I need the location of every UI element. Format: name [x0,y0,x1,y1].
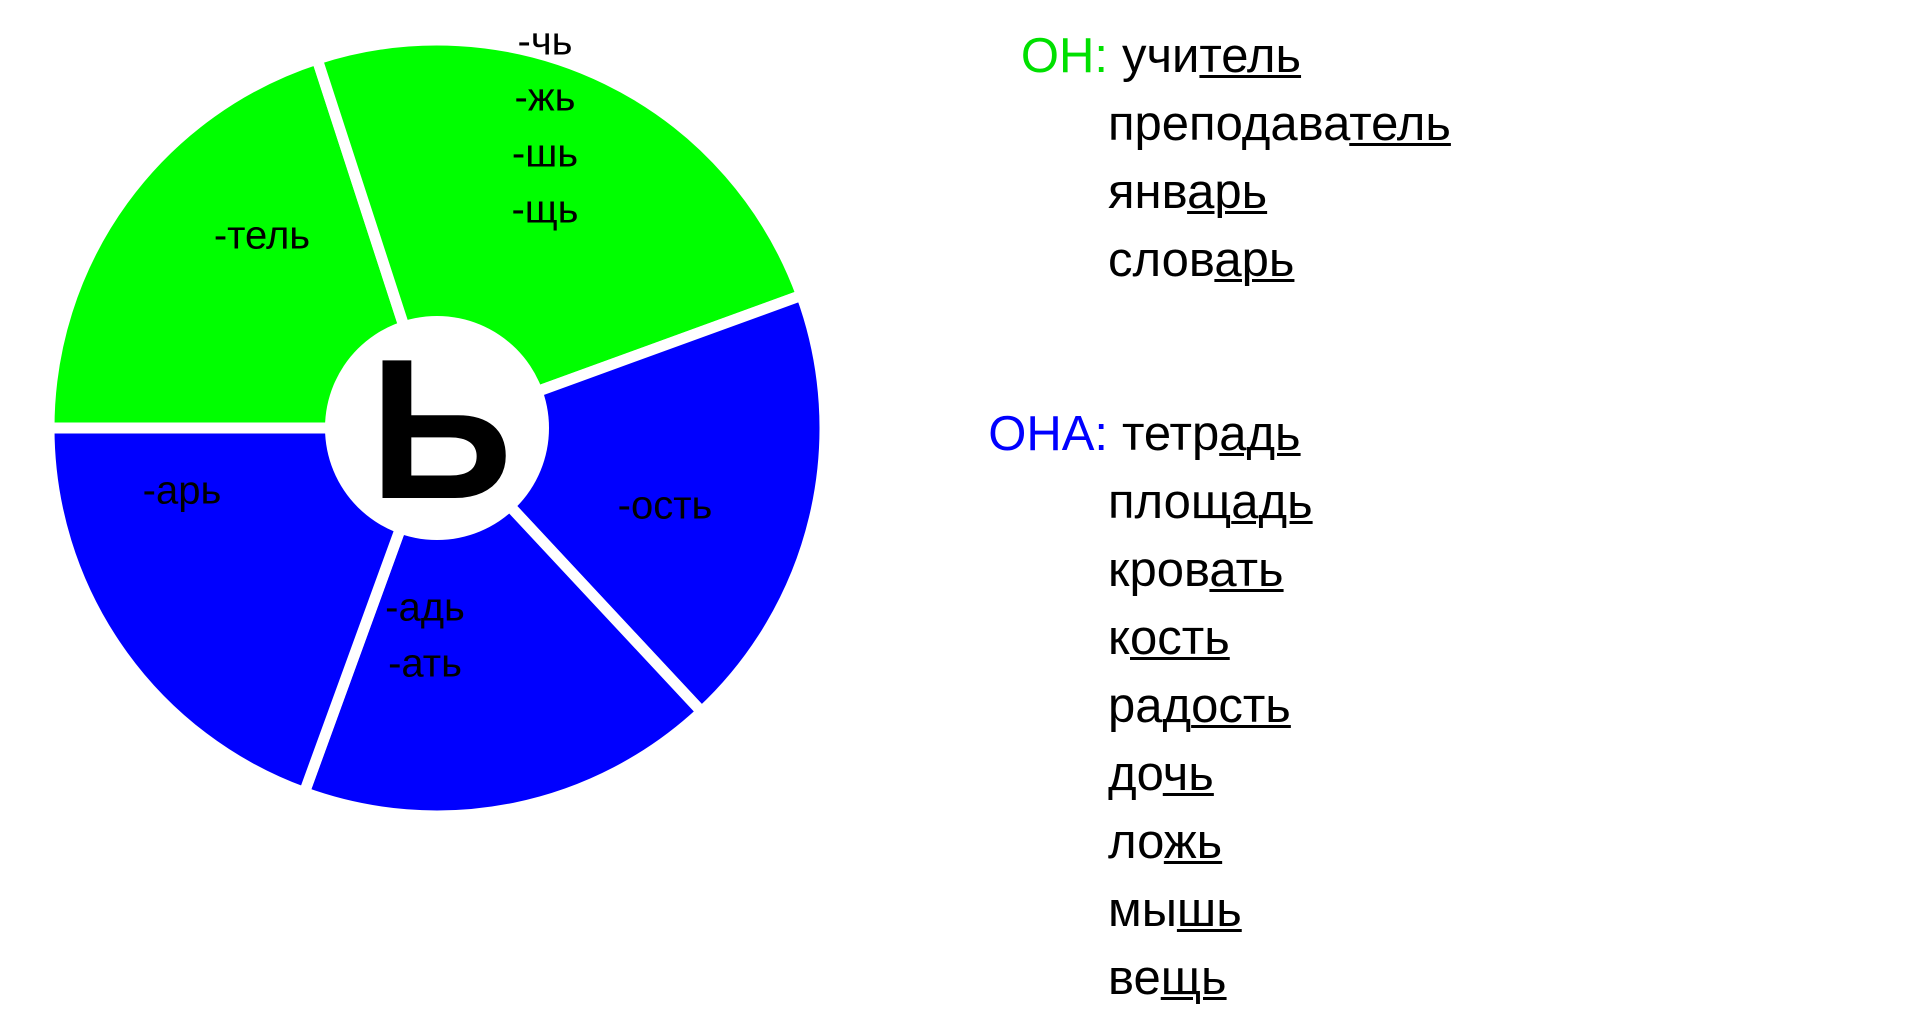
word-suffix-highlight: тель [1349,97,1451,151]
soft-sign-wheel: Ь-тель-арь-адь-ать-ость-чь-жь-шь-щь [0,0,900,1026]
sector-label-soft-consonants: -чь [518,20,573,64]
feminine-first-row: ОНА: тетрадь [960,400,1920,468]
word-suffix-highlight: арь [1187,165,1267,219]
feminine-label: ОНА: [960,400,1122,468]
slide-canvas: Ь-тель-арь-адь-ать-ость-чь-жь-шь-щь ОН: … [0,0,1920,1026]
list-item: преподаватель [1108,90,1920,158]
word-suffix-highlight: ать [1209,543,1283,597]
word-prefix: янв [1108,165,1187,219]
list-item: словарь [1108,226,1920,294]
list-item: дочь [1108,740,1920,808]
sector-label-soft-consonants: -щь [511,188,578,232]
word-suffix-highlight: тель [1199,29,1301,83]
feminine-remaining-words: площадь кровать кость радость дочь ложь [1108,468,1920,1012]
masculine-word-group: ОН: учитель преподаватель январь словарь [960,22,1920,294]
feminine-word-group: ОНА: тетрадь площадь кровать кость [960,400,1920,1012]
word-suffix-highlight: ость [1191,679,1291,733]
list-item: январь [1108,158,1920,226]
sector-label-ar: -арь [143,469,222,513]
sector-label-ad-at: -адь [385,586,465,630]
word-prefix: кров [1108,543,1209,597]
wheel-svg: Ь-тель-арь-адь-ать-ость-чь-жь-шь-щь [0,0,900,1026]
word-prefix: слов [1108,233,1214,287]
word-suffix-highlight: адь [1219,407,1300,461]
word-prefix: мы [1108,883,1177,937]
list-item: радость [1108,672,1920,740]
word-prefix: ве [1108,951,1161,1005]
sector-label-soft-consonants: -жь [515,76,576,120]
word-prefix: преподава [1108,97,1349,151]
sector-label-soft-consonants: -шь [512,132,578,176]
word-suffix-highlight: жь [1164,815,1222,869]
word-prefix: к [1108,611,1130,665]
list-item: ложь [1108,808,1920,876]
masculine-label: ОН: [960,22,1122,90]
sector-label-ost: -ость [618,484,713,528]
list-item: кость [1108,604,1920,672]
word-prefix: площ [1108,475,1231,529]
word-suffix-highlight: щь [1161,951,1227,1005]
word-prefix: учи [1122,29,1199,83]
masculine-first-row: ОН: учитель [960,22,1920,90]
list-item: учитель [1122,22,1920,90]
hub-letter: Ь [369,318,513,541]
word-suffix-highlight: арь [1214,233,1294,287]
list-item: вещь [1108,944,1920,1012]
word-suffix-highlight: чь [1163,747,1214,801]
word-lists-panel: ОН: учитель преподаватель январь словарь [960,0,1920,1026]
word-prefix: ло [1108,815,1164,869]
list-item: мышь [1108,876,1920,944]
sector-label-tel: -тель [214,214,310,258]
list-item: площадь [1108,468,1920,536]
word-prefix: до [1108,747,1163,801]
list-item: кровать [1108,536,1920,604]
word-suffix-highlight: шь [1177,883,1242,937]
sector-label-ad-at: -ать [388,642,462,686]
word-suffix-highlight: адь [1231,475,1312,529]
word-prefix: тетр [1122,407,1219,461]
masculine-remaining-words: преподаватель январь словарь [1108,90,1920,294]
list-item: тетрадь [1122,400,1920,468]
masculine-word-column: учитель [1122,22,1920,90]
word-prefix: рад [1108,679,1191,733]
word-suffix-highlight: ость [1130,611,1230,665]
feminine-word-column: тетрадь [1122,400,1920,468]
